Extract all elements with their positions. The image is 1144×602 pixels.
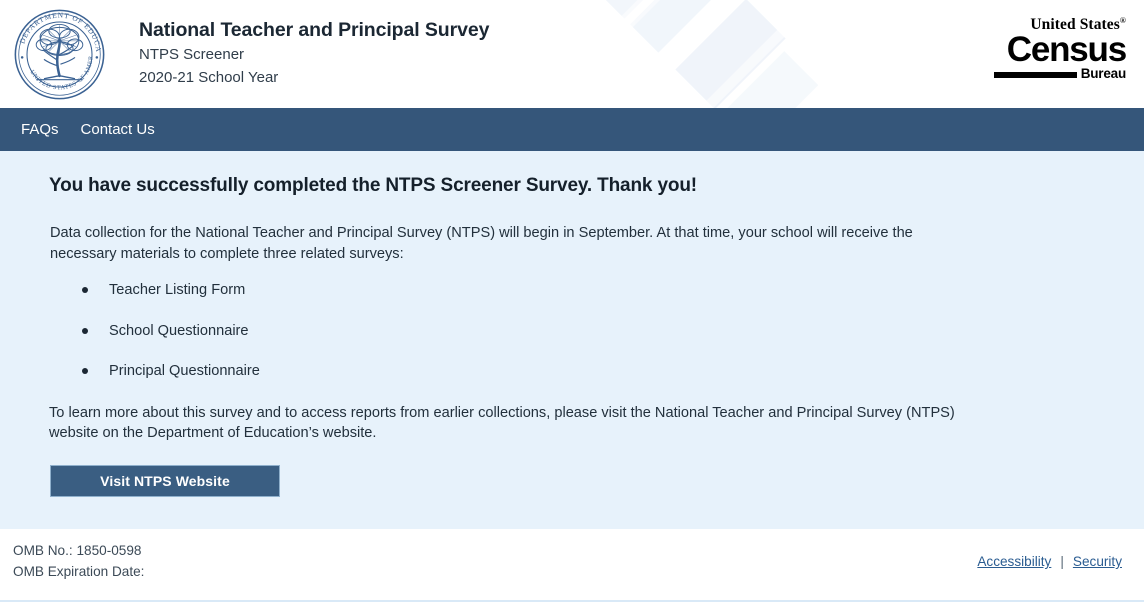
page-title: National Teacher and Principal Survey (139, 17, 489, 43)
survey-list: Teacher Listing Form School Questionnair… (49, 280, 1104, 381)
list-item: Principal Questionnaire (49, 361, 1104, 381)
footer-link-security[interactable]: Security (1073, 554, 1122, 569)
app-page: DEPARTMENT OF EDUCATION UNITED STATES OF… (0, 0, 1144, 602)
list-item: Teacher Listing Form (49, 280, 1104, 300)
footer-link-accessibility[interactable]: Accessibility (977, 554, 1051, 569)
census-logo-bar (994, 72, 1077, 78)
omb-info: OMB No.: 1850-0598 OMB Expiration Date: (13, 540, 144, 583)
main-navigation: FAQs Contact Us (0, 108, 1144, 151)
intro-paragraph: Data collection for the National Teacher… (49, 223, 939, 264)
learn-more-paragraph: To learn more about this survey and to a… (49, 403, 984, 444)
nav-item-faqs[interactable]: FAQs (10, 108, 70, 151)
dept-of-education-seal-icon: DEPARTMENT OF EDUCATION UNITED STATES OF… (11, 6, 108, 103)
footer-links: Accessibility | Security (977, 554, 1122, 569)
svg-text:DEPARTMENT OF EDUCATION: DEPARTMENT OF EDUCATION (11, 6, 103, 53)
site-footer: OMB No.: 1850-0598 OMB Expiration Date: … (0, 529, 1144, 602)
omb-number: OMB No.: 1850-0598 (13, 540, 144, 561)
omb-expiration-date: OMB Expiration Date: (13, 561, 144, 582)
census-logo-line-3: Bureau (994, 67, 1126, 81)
list-item: School Questionnaire (49, 321, 1104, 341)
school-year: 2020-21 School Year (139, 66, 489, 89)
main-content: You have successfully completed the NTPS… (0, 151, 1144, 529)
header-title-block: National Teacher and Principal Survey NT… (139, 17, 489, 90)
registered-mark: ® (1120, 16, 1126, 25)
footer-link-separator: | (1060, 554, 1064, 569)
census-bureau-logo: United States® Census Bureau (994, 17, 1126, 80)
survey-instrument-name: NTPS Screener (139, 43, 489, 66)
nav-item-contact-us[interactable]: Contact Us (70, 108, 166, 151)
confirmation-heading: You have successfully completed the NTPS… (49, 175, 1104, 197)
census-logo-line-2: Census (994, 34, 1126, 66)
visit-ntps-website-button[interactable]: Visit NTPS Website (50, 465, 280, 497)
site-header: DEPARTMENT OF EDUCATION UNITED STATES OF… (0, 0, 1144, 108)
